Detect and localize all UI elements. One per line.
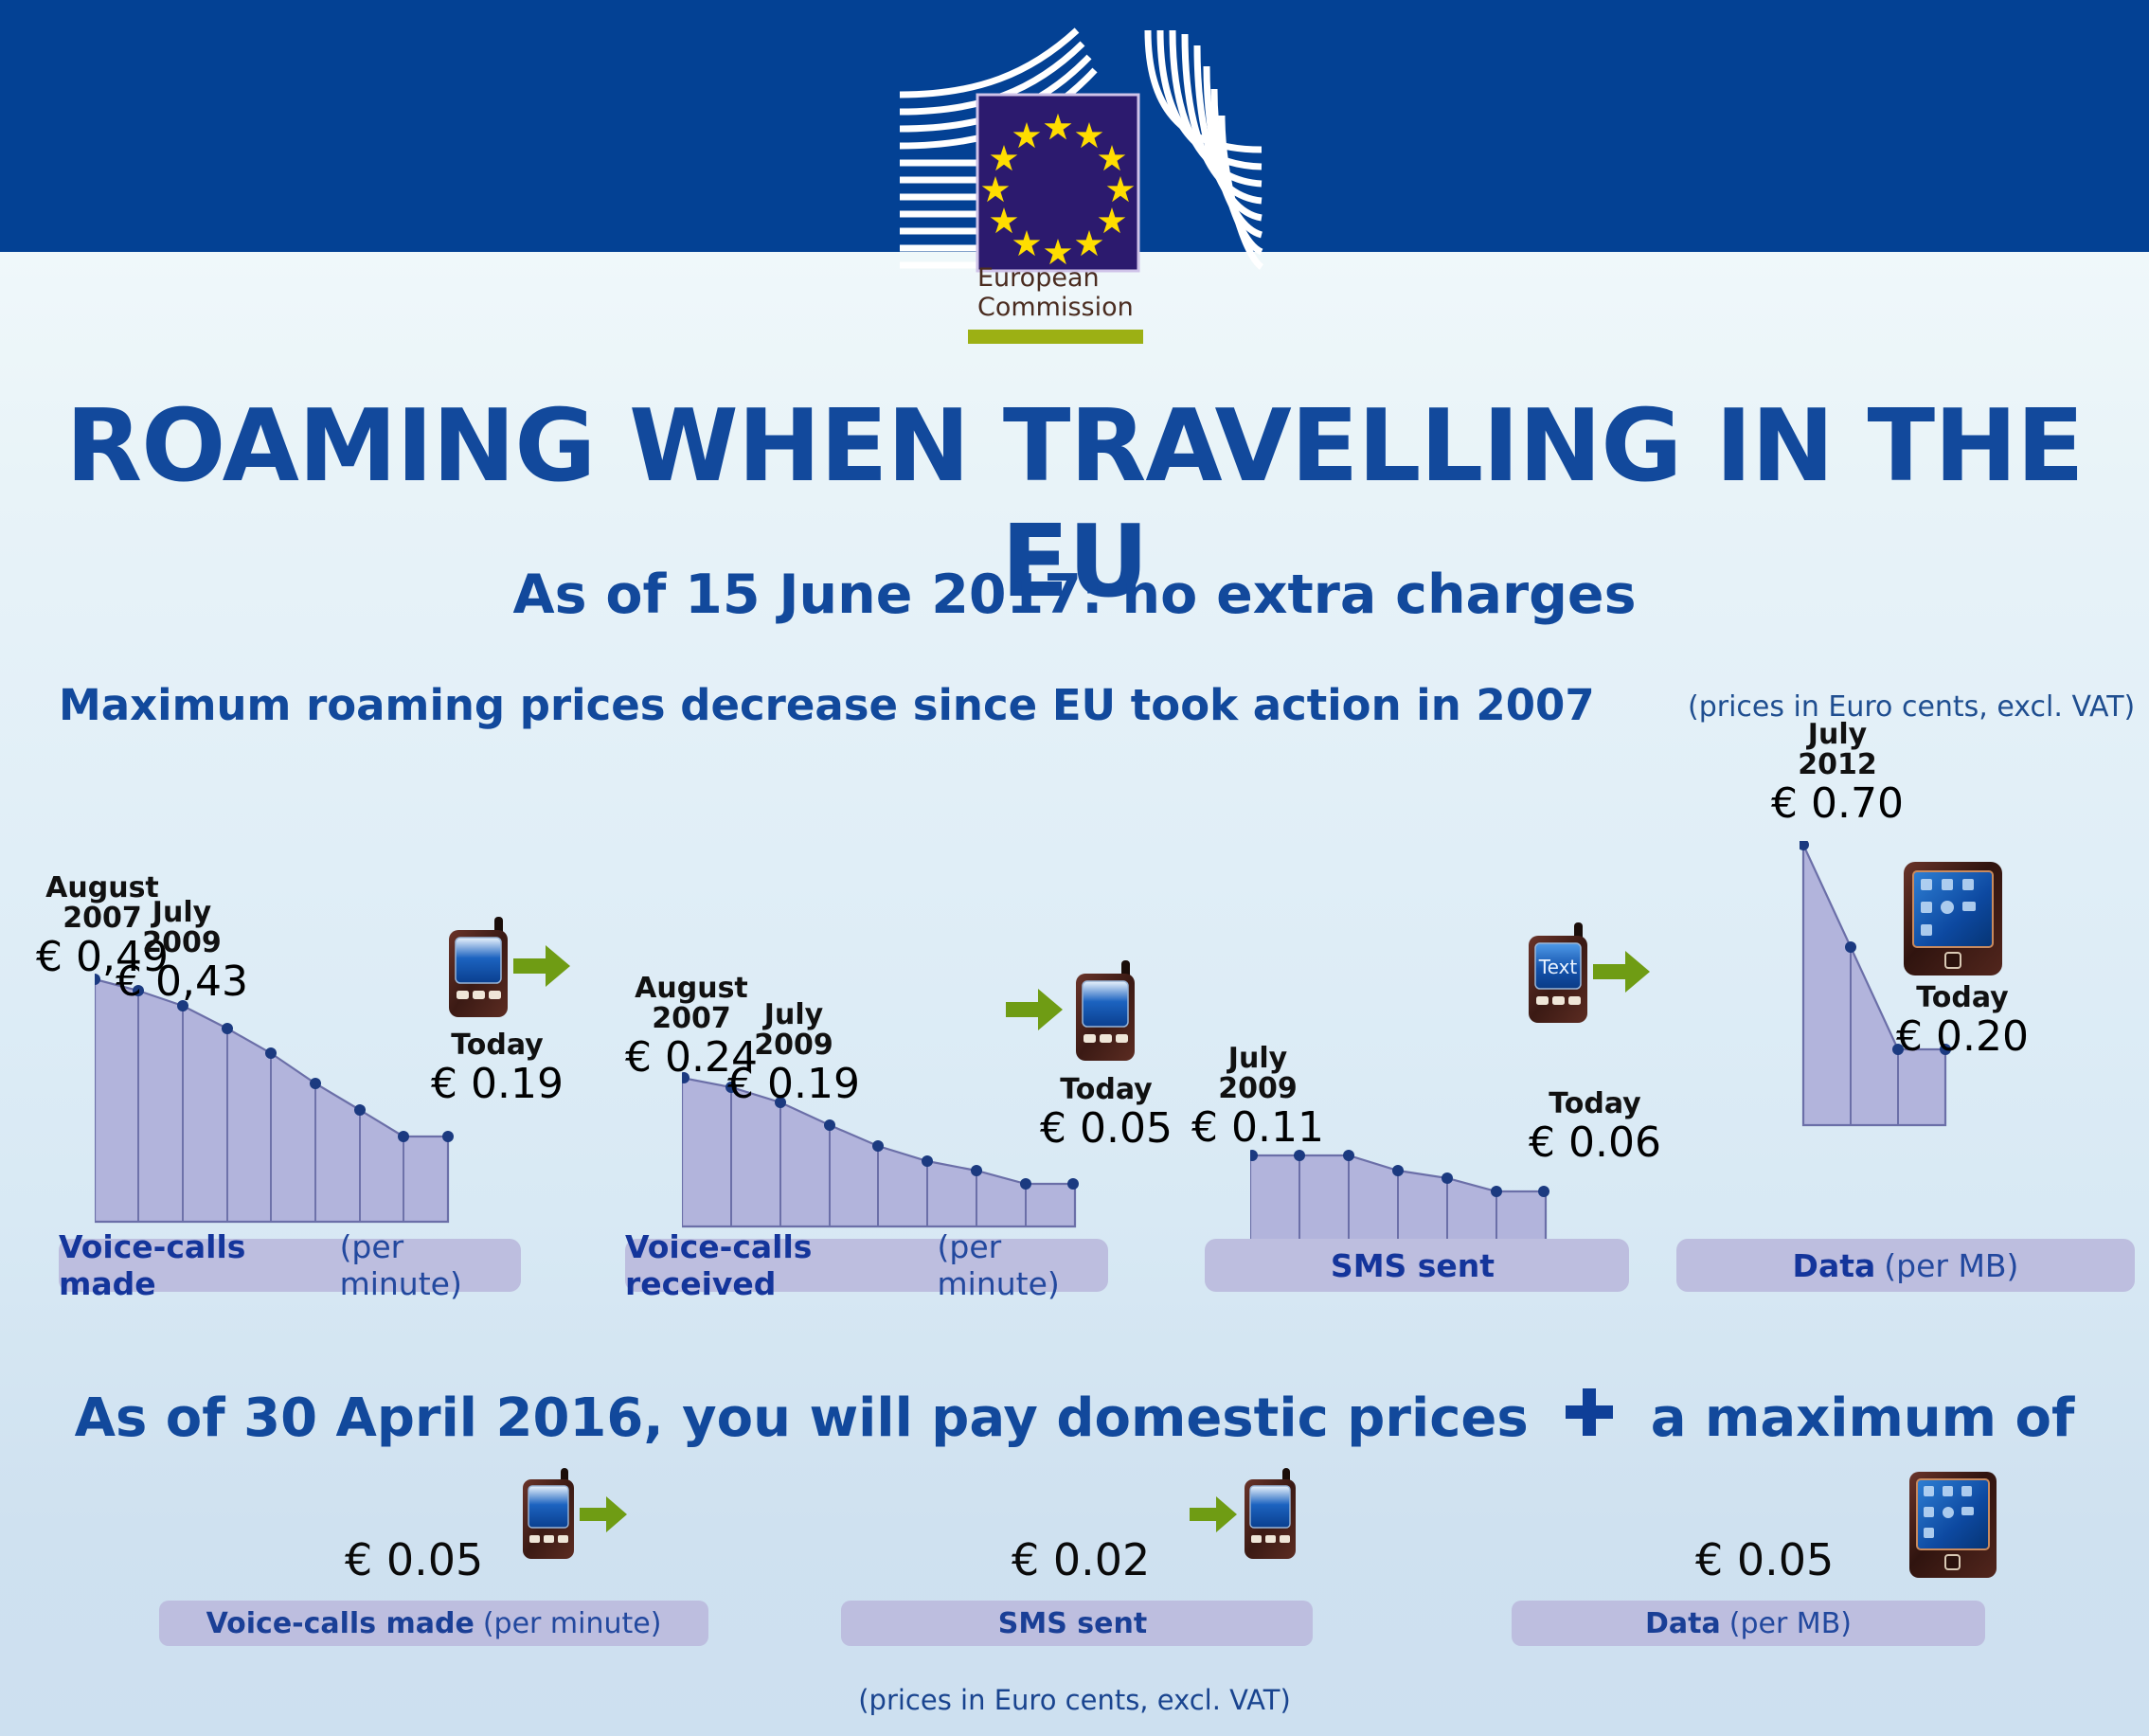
annotation-july-2009-c3: July 2009 € 0.11	[1191, 1044, 1324, 1152]
section-heading: Maximum roaming prices decrease since EU…	[59, 680, 1595, 730]
annotation-period-line1: July	[116, 898, 248, 928]
page-subtitle: As of 15 June 2017: no extra charges	[0, 564, 2149, 626]
annotation-value: € 0,43	[116, 958, 248, 1006]
chart-category-badge-data-per-mb: Data(per MB)	[1676, 1239, 2135, 1292]
annotation-period-line2: 2009	[116, 928, 248, 958]
badge-regular-label: (per minute)	[340, 1228, 521, 1302]
annotation-value: € 0.70	[1771, 780, 1904, 828]
tablet-data-icon-bottom	[1906, 1470, 2010, 1587]
arrow-right-icon	[1190, 1496, 1237, 1532]
badge-regular-label: (per MB)	[1884, 1247, 2018, 1284]
arrow-right-icon	[1593, 951, 1650, 993]
bottom-heading-after: a maximum of	[1651, 1387, 2075, 1449]
badge-bold-label: Voice-calls made	[59, 1228, 331, 1302]
ec-accent-bar	[968, 330, 1143, 344]
bottom-badge-sms-sent: SMS sent	[841, 1601, 1313, 1646]
annotation-today-c1: Today € 0.19	[431, 1030, 564, 1108]
mobile-phone-incoming-icon-bottom	[1190, 1466, 1322, 1584]
annotation-period-line2: 2012	[1771, 750, 1904, 780]
annotation-value: € 0.20	[1896, 1013, 2029, 1061]
chart-category-badge-voice-calls-made: Voice-calls made(per minute)	[59, 1239, 521, 1292]
annotation-today-c2: Today € 0.05	[1040, 1075, 1173, 1153]
badge-regular-label: (per minute)	[938, 1228, 1109, 1302]
arrow-right-icon	[1006, 989, 1063, 1030]
annotation-period-line1: July	[1191, 1044, 1324, 1074]
badge-bold-label: SMS sent	[1331, 1247, 1495, 1284]
badge-bold-label: Voice-calls received	[625, 1228, 929, 1302]
annotation-value: € 0.05	[1040, 1105, 1173, 1153]
ec-wordmark-line1: European	[977, 263, 1100, 293]
mobile-phone-incoming-icon	[1006, 957, 1157, 1074]
chart-category-badge-sms-sent: SMS sent	[1205, 1239, 1629, 1292]
badge-bold-label: SMS sent	[998, 1607, 1147, 1640]
annotation-value: € 0.06	[1529, 1119, 1661, 1167]
ec-wordmark-line2: Commission	[977, 293, 1134, 322]
annotation-period: Today	[431, 1030, 564, 1061]
bottom-price-data-per-mb: € 0.05	[1695, 1534, 1834, 1585]
annotation-period-line1: July	[727, 1000, 860, 1030]
bottom-badge-data-per-mb: Data(per MB)	[1512, 1601, 1985, 1646]
badge-bold-label: Data	[1645, 1607, 1721, 1640]
tablet-data-icon	[1900, 858, 2014, 985]
section-note: (prices in Euro cents, excl. VAT)	[1688, 690, 2135, 724]
bottom-price-sms-sent: € 0.02	[1012, 1534, 1150, 1585]
plus-icon	[1560, 1385, 1619, 1457]
annotation-period: Today	[1040, 1075, 1173, 1105]
annotation-july-2009-c1: July 2009 € 0,43	[116, 898, 248, 1006]
annotation-value: € 0.11	[1191, 1104, 1324, 1152]
bottom-price-voice-calls-made: € 0.05	[345, 1534, 483, 1585]
bottom-heading: As of 30 April 2016, you will pay domest…	[0, 1385, 2149, 1457]
mobile-phone-text-icon: Text	[1525, 919, 1676, 1036]
annotation-july-2012-c4: July 2012 € 0.70	[1771, 720, 1904, 828]
arrow-right-icon	[513, 945, 570, 987]
badge-bold-label: Data	[1793, 1247, 1876, 1284]
mobile-phone-outgoing-icon	[445, 913, 597, 1030]
bottom-heading-before: As of 30 April 2016, you will pay domest…	[75, 1387, 1529, 1449]
arrow-right-icon	[580, 1496, 627, 1532]
phone-screen-text: Text	[1538, 956, 1578, 978]
annotation-period: Today	[1896, 983, 2029, 1013]
annotation-value: € 0.19	[431, 1061, 564, 1108]
chart-category-badge-voice-calls-received: Voice-calls received(per minute)	[625, 1239, 1108, 1292]
annotation-period: Today	[1529, 1089, 1661, 1119]
mobile-phone-outgoing-icon-bottom	[519, 1466, 652, 1584]
badge-regular-label: (per minute)	[483, 1607, 662, 1640]
annotation-period-line2: 2009	[1191, 1074, 1324, 1104]
annotation-period-line2: 2009	[727, 1030, 860, 1061]
bottom-badge-voice-calls-made: Voice-calls made(per minute)	[159, 1601, 708, 1646]
badge-bold-label: Voice-calls made	[206, 1607, 475, 1640]
annotation-july-2009-c2: July 2009 € 0.19	[727, 1000, 860, 1108]
annotation-today-c4: Today € 0.20	[1896, 983, 2029, 1061]
ec-wordmark: European Commission	[977, 263, 1186, 322]
bottom-footnote: (prices in Euro cents, excl. VAT)	[0, 1684, 2149, 1716]
annotation-value: € 0.19	[727, 1061, 860, 1108]
annotation-period-line1: July	[1771, 720, 1904, 750]
annotation-today-c3: Today € 0.06	[1529, 1089, 1661, 1167]
badge-regular-label: (per MB)	[1729, 1607, 1852, 1640]
